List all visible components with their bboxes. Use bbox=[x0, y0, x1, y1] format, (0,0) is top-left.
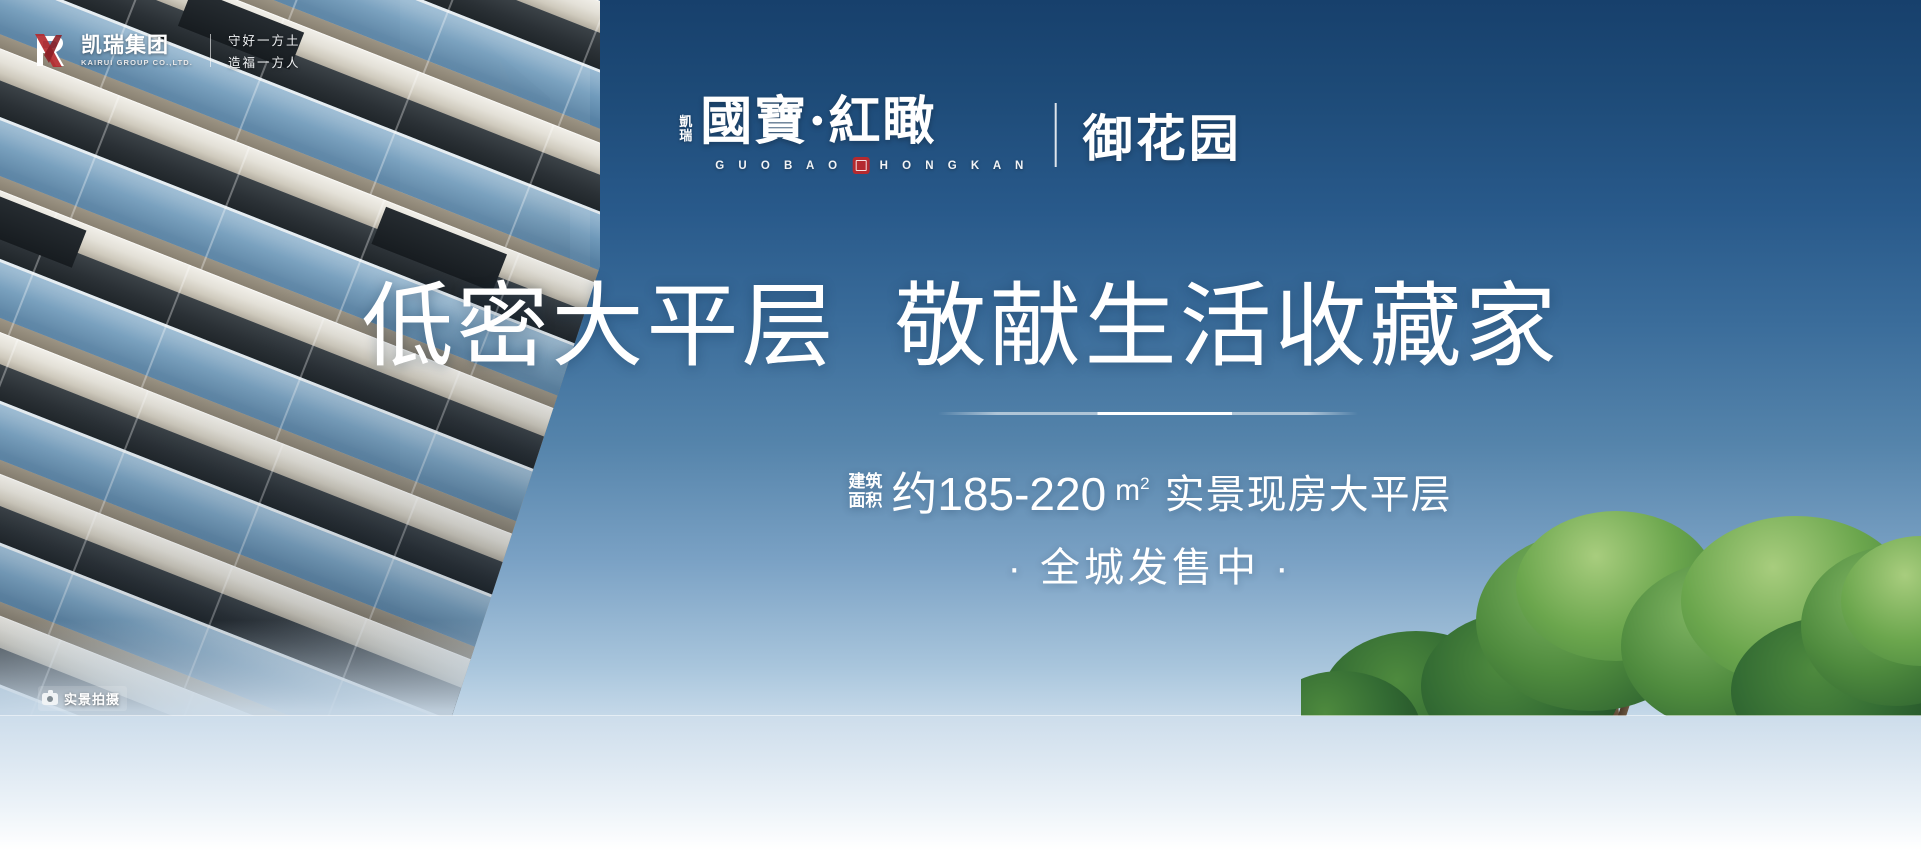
kairui-r-monogram-icon bbox=[34, 33, 68, 69]
camera-icon bbox=[42, 693, 58, 705]
project-prefix-line-1: 凱 bbox=[679, 115, 692, 129]
area-unit: m2 bbox=[1115, 474, 1149, 508]
subtitle-tail: 实景现房大平层 bbox=[1165, 462, 1452, 520]
project-pinyin: G U O B A O H O N G K A N bbox=[679, 157, 1029, 174]
headline-divider bbox=[938, 412, 1358, 415]
corporate-name-en: KAIRUI GROUP CO.,LTD. bbox=[81, 59, 193, 67]
slogan-line-2: 造福一方人 bbox=[228, 52, 301, 71]
project-name: 國寶·紅瞰 bbox=[700, 96, 936, 148]
unit-superscript: 2 bbox=[1140, 474, 1149, 493]
slogan-line-1: 守好一方土 bbox=[228, 30, 301, 49]
project-logo-divider bbox=[1055, 103, 1057, 167]
pinyin-right: H O N G K A N bbox=[880, 160, 1029, 172]
bottom-gradient-band bbox=[0, 716, 1921, 851]
project-logo[interactable]: 凱 瑞 國寶·紅瞰 G U O B A O H O N G K A N 御花园 bbox=[679, 96, 1242, 174]
unit-base: m bbox=[1115, 474, 1140, 507]
photo-disclaimer: 实景拍摄 bbox=[38, 686, 127, 711]
photo-disclaimer-text: 实景拍摄 bbox=[64, 689, 120, 708]
pinyin-left: G U O B A O bbox=[715, 160, 842, 172]
area-label: 建筑 面积 bbox=[848, 472, 882, 510]
project-prefix-line-2: 瑞 bbox=[679, 129, 692, 143]
headline-part-2: 敬献生活收藏家 bbox=[895, 252, 1560, 385]
red-seal-icon bbox=[853, 157, 870, 174]
corporate-slogan: 守好一方土 造福一方人 bbox=[228, 30, 301, 71]
corporate-logo[interactable]: 凯瑞集团 KAIRUI GROUP CO.,LTD. 守好一方土 造福一方人 bbox=[34, 30, 301, 71]
property-advertisement-banner: 凯瑞集团 KAIRUI GROUP CO.,LTD. 守好一方土 造福一方人 凱… bbox=[0, 0, 1921, 851]
area-label-line-1: 建筑 bbox=[848, 472, 882, 491]
headline: 低密大平层 敬献生活收藏家 bbox=[361, 252, 1559, 385]
subtitle-line: 建筑 面积 约185-220 m2 实景现房大平层 bbox=[848, 458, 1451, 524]
project-sub-name: 御花园 bbox=[1083, 99, 1242, 171]
project-prefix: 凱 瑞 bbox=[679, 115, 692, 143]
headline-part-1: 低密大平层 bbox=[361, 252, 836, 385]
area-value: 约185-220 bbox=[891, 458, 1106, 524]
sale-status: · 全城发售中 · bbox=[1008, 535, 1293, 593]
logo-divider bbox=[210, 34, 211, 67]
corporate-name-cn: 凯瑞集团 bbox=[81, 35, 193, 56]
area-label-line-2: 面积 bbox=[848, 491, 882, 510]
